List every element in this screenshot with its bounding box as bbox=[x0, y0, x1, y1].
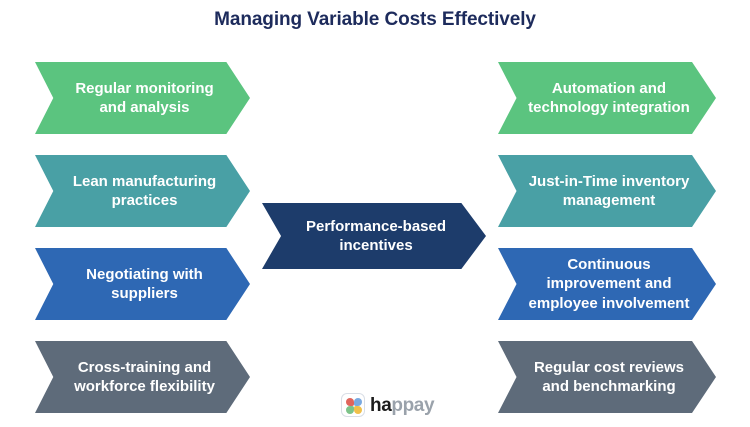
center-strategy-label: Performance-based incentives bbox=[290, 217, 462, 256]
strategy-label: Cross-training and workforce flexibility bbox=[65, 358, 224, 396]
strategy-band-left-3[interactable]: Negotiating with suppliers bbox=[35, 248, 250, 320]
strategy-label: Regular monitoring and analysis bbox=[65, 79, 224, 117]
strategy-label: Automation and technology integration bbox=[528, 79, 690, 117]
strategy-label: Regular cost reviews and benchmarking bbox=[528, 358, 690, 396]
strategy-band-left-2[interactable]: Lean manufacturing practices bbox=[35, 155, 250, 227]
logo-petal-bottom-left bbox=[346, 406, 354, 414]
wordmark-light: ppay bbox=[391, 395, 434, 416]
page-title: Managing Variable Costs Effectively bbox=[0, 9, 750, 31]
strategy-label: Just-in-Time inventory management bbox=[528, 172, 690, 210]
strategy-band-left-4[interactable]: Cross-training and workforce flexibility bbox=[35, 341, 250, 413]
infographic-canvas: Managing Variable Costs Effectively Regu… bbox=[0, 0, 750, 427]
logo-petal-top-right bbox=[354, 398, 362, 406]
strategy-band-left-1[interactable]: Regular monitoring and analysis bbox=[35, 62, 250, 134]
strategy-band-right-1[interactable]: Automation and technology integration bbox=[498, 62, 716, 134]
strategy-label: Lean manufacturing practices bbox=[65, 172, 224, 210]
logo-petal-bottom-right bbox=[354, 406, 362, 414]
wordmark-dark: ha bbox=[370, 395, 391, 416]
happay-logo: happay bbox=[341, 391, 434, 419]
logo-petal-top-left bbox=[346, 398, 354, 406]
center-strategy-band[interactable]: Performance-based incentives bbox=[262, 203, 486, 269]
happay-wordmark: happay bbox=[370, 396, 434, 415]
happay-logo-icon bbox=[341, 393, 365, 417]
strategy-band-right-3[interactable]: Continuous improvement and employee invo… bbox=[498, 248, 716, 320]
strategy-band-right-4[interactable]: Regular cost reviews and benchmarking bbox=[498, 341, 716, 413]
strategy-label: Negotiating with suppliers bbox=[65, 265, 224, 303]
strategy-band-right-2[interactable]: Just-in-Time inventory management bbox=[498, 155, 716, 227]
strategy-label: Continuous improvement and employee invo… bbox=[528, 255, 690, 313]
